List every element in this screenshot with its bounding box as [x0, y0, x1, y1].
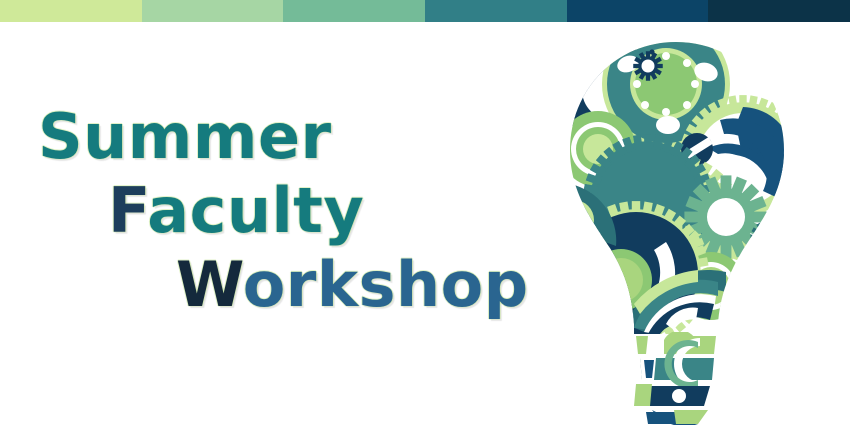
band-5-navy-blue	[567, 0, 709, 22]
headline-rest-summer: ummer	[83, 100, 331, 173]
headline-initial-s: S	[38, 100, 83, 173]
headline-rest-faculty: aculty	[147, 174, 364, 247]
band-2-light-green	[142, 0, 284, 22]
headline-initial-f: F	[108, 174, 147, 247]
band-4-teal	[425, 0, 567, 22]
headline-line-summer: Summer	[38, 106, 332, 168]
band-1-light-lime	[0, 0, 142, 22]
headline-rest-workshop: orkshop	[243, 248, 529, 321]
headline-line-workshop: Workshop	[176, 254, 529, 316]
gear-lime-ring-mid-left	[554, 200, 594, 240]
bulb-base-group	[634, 330, 716, 425]
bulb-glass-group	[548, 24, 807, 347]
base-band-4	[646, 410, 708, 425]
headline-initial-w: W	[176, 248, 243, 321]
headline-block: Summer Faculty Workshop	[0, 86, 560, 336]
lightbulb-gears-illustration	[548, 24, 850, 425]
banner: Summer Faculty Workshop	[0, 0, 850, 425]
band-6-dark-navy	[708, 0, 850, 22]
band-3-mint-green	[283, 0, 425, 22]
base-band-3	[634, 384, 710, 406]
headline-line-faculty: Faculty	[108, 180, 364, 242]
top-color-bar	[0, 0, 850, 22]
